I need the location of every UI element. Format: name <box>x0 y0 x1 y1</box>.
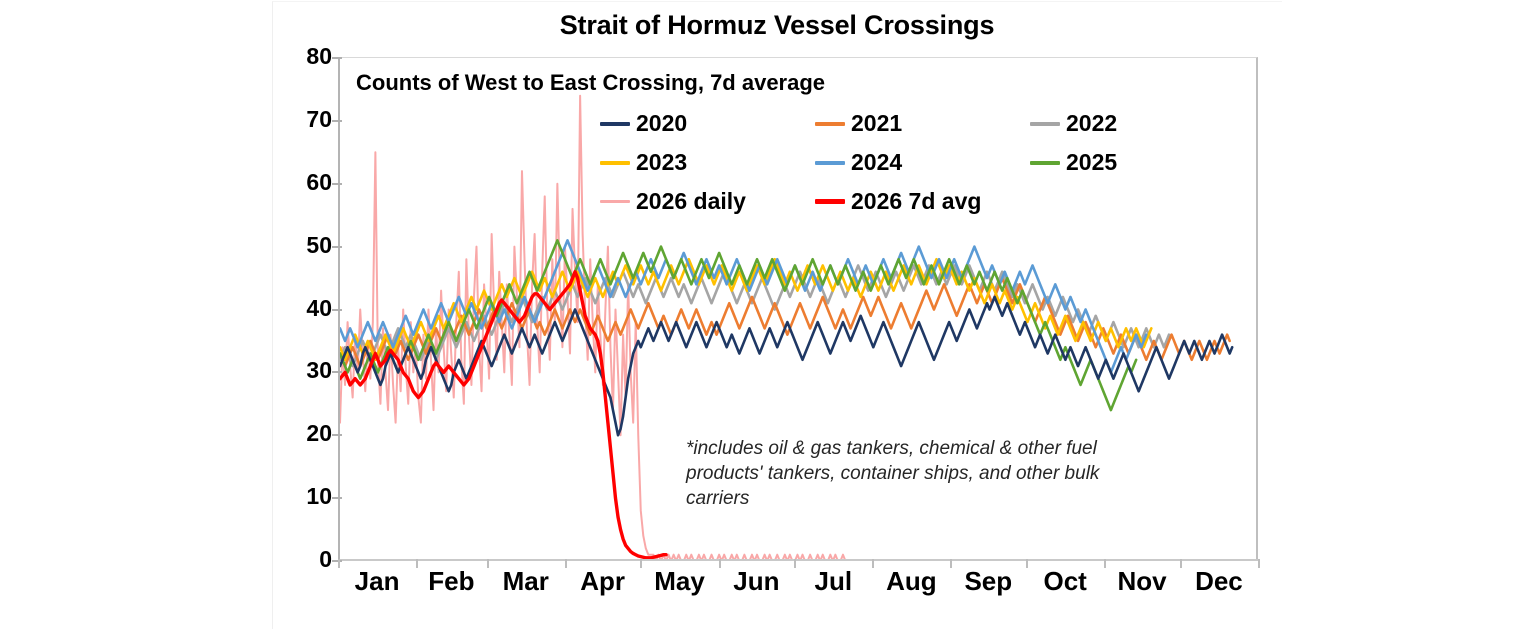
legend-label: 2020 <box>636 112 687 135</box>
legend-color-swatch <box>600 200 630 203</box>
y-tick-label: 30 <box>284 359 332 382</box>
x-axis-labels: JanFebMarAprMayJunJulAugSepOctNovDec <box>338 566 1260 610</box>
legend-label: 2023 <box>636 151 687 174</box>
x-tick-mark <box>416 559 418 568</box>
x-tick-mark <box>950 559 952 568</box>
y-tick-label: 20 <box>284 422 332 445</box>
chart-screenshot: Strait of Hormuz Vessel Crossings 010203… <box>0 0 1536 630</box>
y-axis-labels: 01020304050607080 <box>276 0 332 630</box>
legend-color-swatch <box>1030 122 1060 126</box>
y-tick-mark <box>332 309 342 311</box>
legend-color-swatch <box>600 161 630 165</box>
y-tick-label: 80 <box>284 45 332 68</box>
x-tick-mark <box>565 559 567 568</box>
y-tick-mark <box>332 246 342 248</box>
legend-row: 202020212022 <box>600 104 1220 143</box>
x-tick-mark <box>794 559 796 568</box>
x-tick-mark <box>1258 559 1260 568</box>
x-tick-mark <box>338 559 340 568</box>
legend-row: 202320242025 <box>600 143 1220 182</box>
x-tick-mark <box>1026 559 1028 568</box>
legend-label: 2026 7d avg <box>851 190 981 213</box>
legend-color-swatch <box>600 122 630 126</box>
y-tick-mark <box>332 183 342 185</box>
legend-item-2025[interactable]: 2025 <box>1030 151 1245 174</box>
x-tick-mark <box>1180 559 1182 568</box>
x-tick-mark <box>640 559 642 568</box>
legend-row: 2026 daily2026 7d avg <box>600 182 1220 221</box>
legend-color-swatch <box>815 199 845 204</box>
x-tick-mark <box>487 559 489 568</box>
y-tick-label: 50 <box>284 234 332 257</box>
legend-item-2020[interactable]: 2020 <box>600 112 815 135</box>
x-axis-line <box>338 559 1260 561</box>
y-tick-mark <box>332 57 342 59</box>
y-tick-mark <box>332 120 342 122</box>
y-tick-mark <box>332 497 342 499</box>
legend-label: 2026 daily <box>636 190 746 213</box>
x-tick-mark <box>719 559 721 568</box>
chart-legend: 2020202120222023202420252026 daily2026 7… <box>600 104 1220 221</box>
legend-label: 2021 <box>851 112 902 135</box>
legend-label: 2024 <box>851 151 902 174</box>
legend-caption: Counts of West to East Crossing, 7d aver… <box>356 70 825 96</box>
legend-color-swatch <box>815 122 845 126</box>
y-tick-mark <box>332 560 342 562</box>
legend-color-swatch <box>1030 161 1060 165</box>
x-tick-mark <box>1104 559 1106 568</box>
legend-item-2023[interactable]: 2023 <box>600 151 815 174</box>
y-tick-label: 70 <box>284 108 332 131</box>
legend-item-2026-7d-avg[interactable]: 2026 7d avg <box>815 190 1030 213</box>
y-tick-mark <box>332 434 342 436</box>
chart-title: Strait of Hormuz Vessel Crossings <box>272 10 1282 41</box>
legend-color-swatch <box>815 161 845 165</box>
legend-label: 2025 <box>1066 151 1117 174</box>
x-tick-mark <box>872 559 874 568</box>
legend-item-2022[interactable]: 2022 <box>1030 112 1245 135</box>
y-tick-label: 10 <box>284 485 332 508</box>
y-tick-mark <box>332 371 342 373</box>
legend-label: 2022 <box>1066 112 1117 135</box>
legend-item-2026-daily[interactable]: 2026 daily <box>600 190 815 213</box>
footnote-annotation: *includes oil & gas tankers, chemical & … <box>686 436 1116 511</box>
y-tick-label: 0 <box>284 548 332 571</box>
y-tick-label: 40 <box>284 297 332 320</box>
legend-item-2024[interactable]: 2024 <box>815 151 1030 174</box>
x-tick-label-dec: Dec <box>1173 566 1265 597</box>
y-tick-label: 60 <box>284 171 332 194</box>
legend-item-2021[interactable]: 2021 <box>815 112 1030 135</box>
